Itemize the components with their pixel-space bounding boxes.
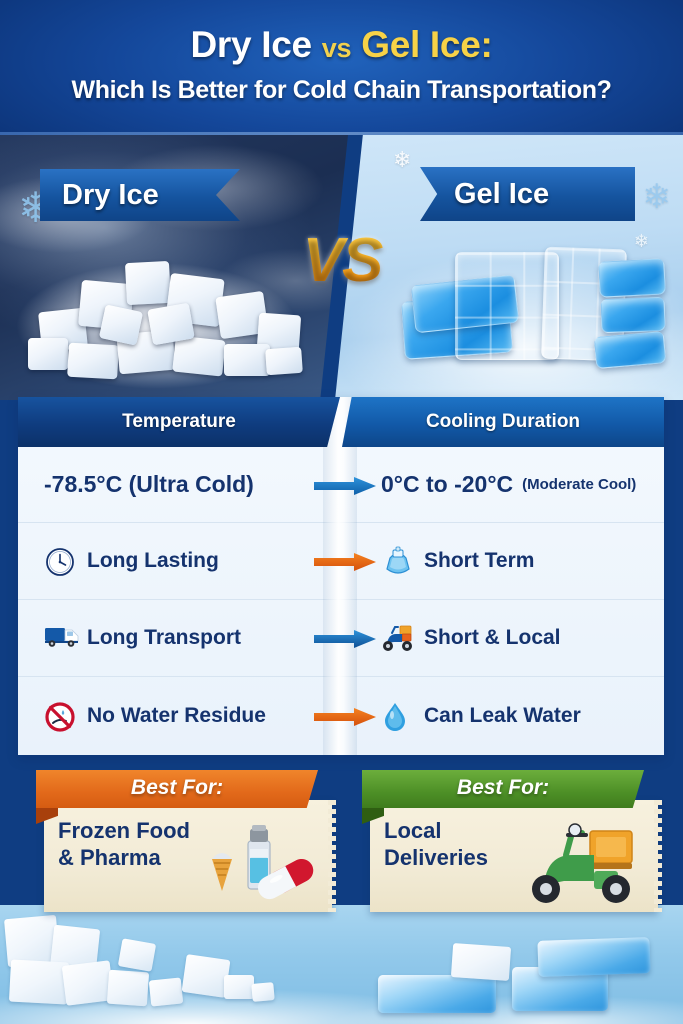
gel-ice-transport-label: Short & Local [424,626,561,650]
table-row: Long Lasting [18,523,664,600]
cell-dry-ice-residue: No Water Residue [18,701,341,731]
gel-ice-residue-label: Can Leak Water [424,704,581,728]
arrow-right-icon [314,630,376,646]
clock-icon [44,546,78,576]
best-for-card-gel-ice: Best For: Local Deliveries [348,770,658,918]
cell-dry-ice-duration: Long Lasting [18,546,341,576]
gel-ice-label-text: Gel Ice [420,167,635,221]
table-row: -78.5°C (Ultra Cold) 0°C to -20°C (Moder… [18,447,664,523]
truck-icon [44,623,78,653]
arrow-right-icon [314,553,376,569]
column-header-temperature: Temperature [18,397,340,447]
arrow-right-icon [314,477,376,493]
dry-ice-duration-label: Long Lasting [87,549,219,573]
no-water-icon [44,701,78,731]
ice-bag-icon [381,546,415,576]
water-drop-icon [381,701,415,731]
dry-ice-temperature-value: -78.5°C (Ultra Cold) [44,471,254,498]
snowflake-icon: ❄ [393,147,411,173]
best-for-text-gel-ice: Local Deliveries [384,818,488,872]
gel-ice-temperature-note: (Moderate Cool) [522,476,636,493]
vs-badge: VS [287,218,397,303]
comparison-table: Temperature Cooling Duration -78.5°C (Ul… [18,397,664,755]
pharma-vial-capsule-icecream-icon [198,819,318,912]
header-banner: Dry Ice vs Gel Ice: Which Is Better for … [0,0,683,135]
dry-ice-label-banner: Dry Ice [40,169,240,221]
best-for-card-dry-ice: Best For: Frozen Food & Pharma [22,770,332,918]
dry-ice-transport-label: Long Transport [87,626,241,650]
best-for-section: Best For: Frozen Food & Pharma [0,770,683,920]
table-header-row: Temperature Cooling Duration [18,397,664,447]
title-dry-ice: Dry Ice [191,24,312,65]
cell-gel-ice-duration: Short Term [341,546,664,576]
cell-dry-ice-transport: Long Transport [18,623,341,653]
table-row: No Water Residue Can [18,677,664,754]
dry-ice-label-text: Dry Ice [40,169,240,221]
cell-dry-ice-temperature: -78.5°C (Ultra Cold) [18,471,341,498]
page-title: Dry Ice vs Gel Ice: [0,24,683,66]
gel-ice-duration-label: Short Term [424,549,534,573]
green-delivery-scooter-icon [518,815,644,912]
dry-ice-pile-image [22,252,312,382]
gel-ice-label-banner: Gel Ice [420,167,635,221]
best-for-line-2: Deliveries [384,845,488,872]
best-for-text-dry-ice: Frozen Food & Pharma [58,818,190,872]
column-header-cooling-duration: Cooling Duration [342,397,664,447]
best-for-line-1: Local [384,818,488,845]
cell-gel-ice-temperature: 0°C to -20°C (Moderate Cool) [341,471,664,498]
best-for-line-1: Frozen Food [58,818,190,845]
arrow-right-icon [314,708,376,724]
infographic-page: Dry Ice vs Gel Ice: Which Is Better for … [0,0,683,1024]
best-for-ribbon-gel-ice: Best For: [362,770,644,808]
table-row: Long Transport [18,600,664,677]
footer-ice-imagery [0,905,683,1024]
gel-ice-packs-image [403,246,653,386]
title-vs: vs [322,33,351,63]
best-for-ribbon-dry-ice: Best For: [36,770,318,808]
scooter-icon [381,623,415,653]
gel-ice-temperature-value: 0°C to -20°C [381,471,513,498]
best-for-line-2: & Pharma [58,845,190,872]
page-subtitle: Which Is Better for Cold Chain Transport… [0,76,683,105]
title-gel-ice: Gel Ice: [361,24,492,65]
cell-gel-ice-transport: Short & Local [341,623,664,653]
snowflake-icon: ❄ [643,177,672,217]
cell-gel-ice-residue: Can Leak Water [341,701,664,731]
dry-ice-residue-label: No Water Residue [87,704,266,728]
